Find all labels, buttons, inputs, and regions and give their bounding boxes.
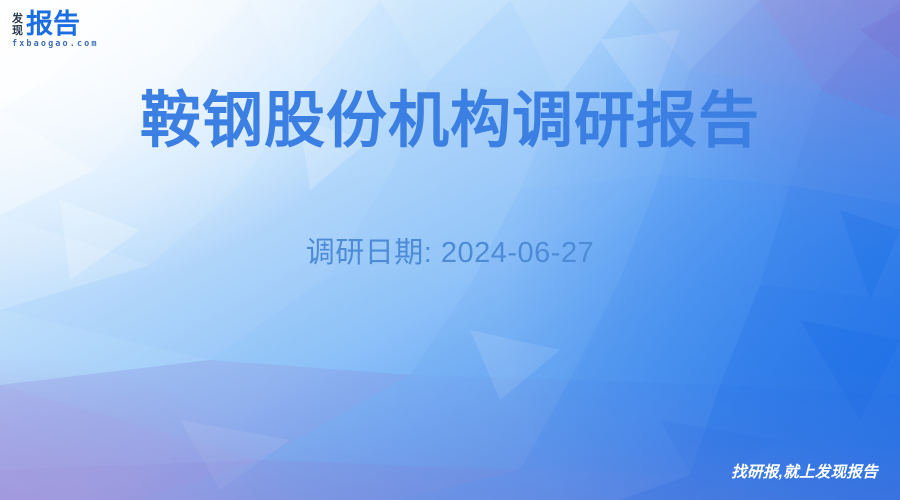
report-cover-slide: 发 现 报告 fxbaogao.com 鞍钢股份机构调研报告 调研日期: 202…	[0, 0, 900, 500]
logo-prefix-char-2: 现	[12, 25, 23, 37]
logo-url: fxbaogao.com	[12, 39, 172, 49]
brand-logo[interactable]: 发 现 报告 fxbaogao.com	[12, 8, 172, 54]
logo-prefix-characters: 发 现	[12, 13, 23, 38]
logo-mark: 发 现 报告	[12, 8, 172, 38]
logo-prefix-char-1: 发	[12, 13, 23, 25]
low-poly-background	[0, 0, 900, 500]
footer-tagline: 找研报,就上发现报告	[731, 463, 878, 483]
logo-wordmark: 报告	[26, 10, 80, 38]
